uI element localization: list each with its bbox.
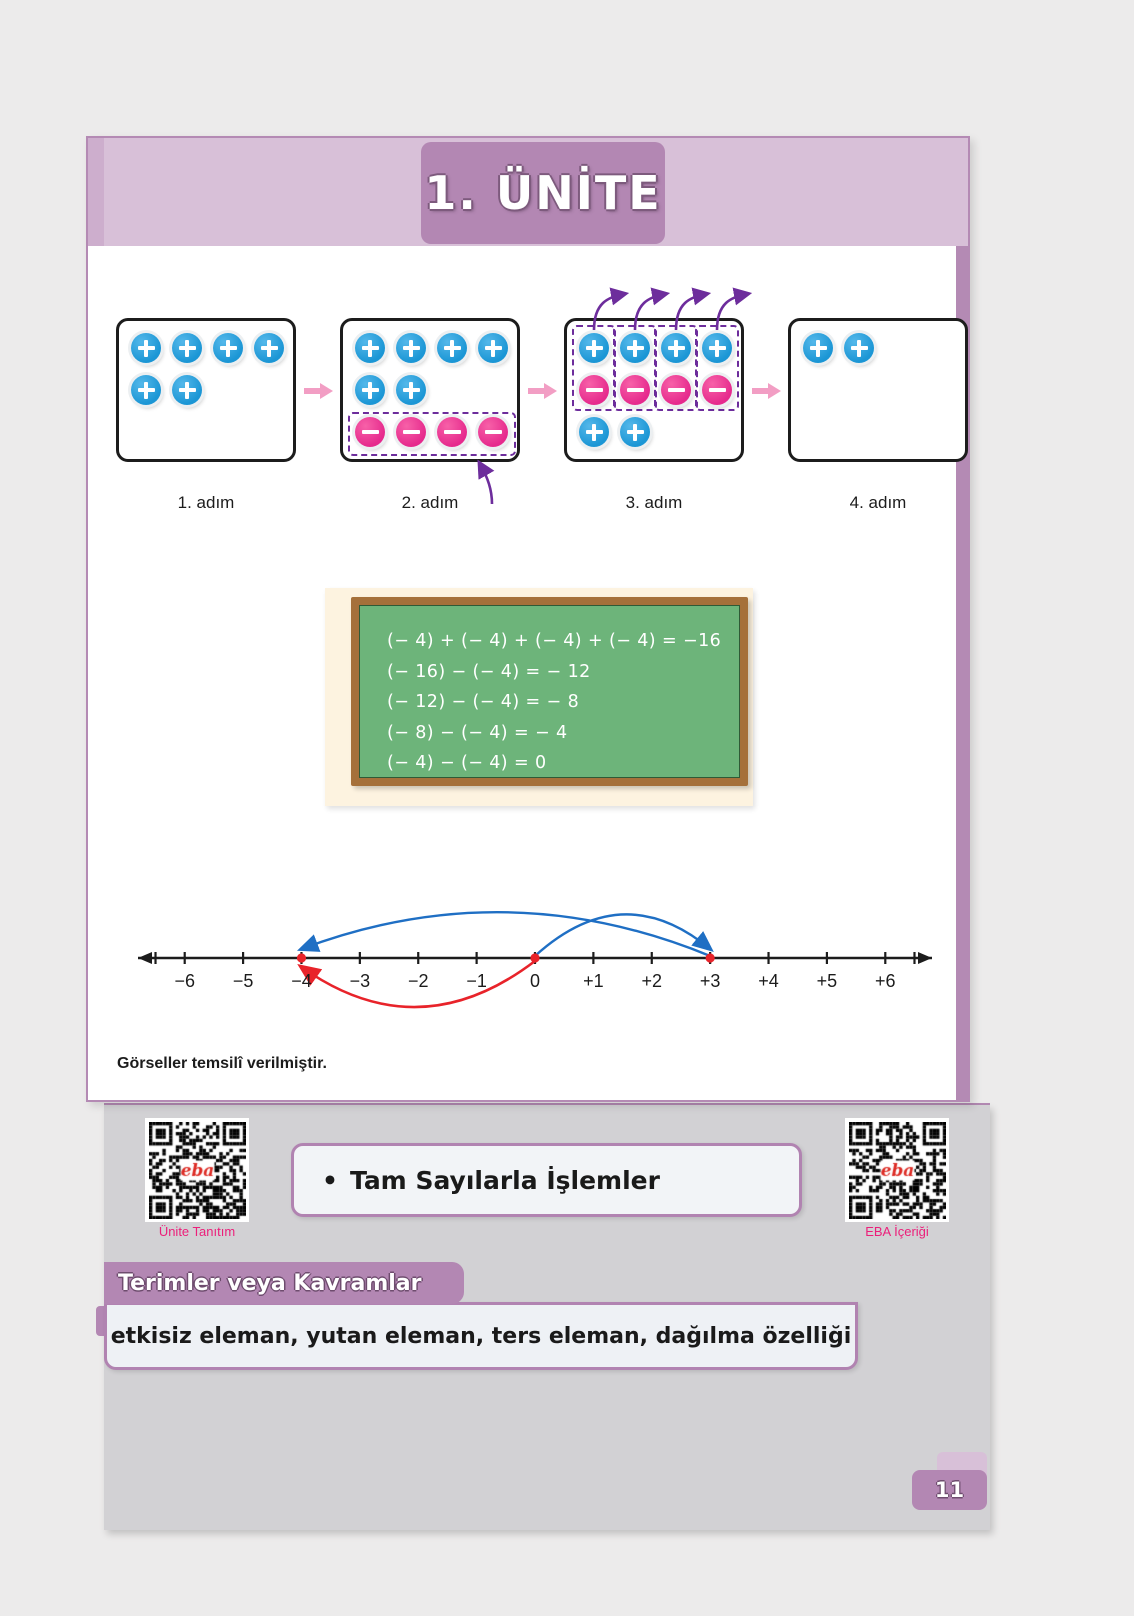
- terms-box: etkisiz eleman, yutan eleman, ters elema…: [104, 1302, 858, 1370]
- number-line-tick-label: −2: [393, 971, 443, 992]
- minus-counter-chip: [437, 417, 467, 447]
- number-line-tick-label: +6: [860, 971, 910, 992]
- plus-counter-chip: [131, 375, 161, 405]
- topic-bullet: •: [322, 1166, 338, 1195]
- chalkboard-line: (− 4) − (− 4) = 0: [387, 748, 739, 779]
- page-title: 1. ÜNİTE: [421, 142, 665, 244]
- chalkboard-line: (− 4) + (− 4) + (− 4) + (− 4) = −16: [387, 626, 739, 657]
- chip-bar-horizontal: [403, 430, 420, 434]
- plus-counter-chip: [396, 375, 426, 405]
- chip-bar-vertical: [368, 382, 372, 399]
- chalkboard-frame: (− 4) + (− 4) + (− 4) + (− 4) = −16(− 16…: [351, 597, 748, 786]
- number-line-tick-label: −4: [276, 971, 326, 992]
- qr-code-canvas: [849, 1122, 946, 1219]
- number-line-tick-label: −5: [218, 971, 268, 992]
- qr-left-label: Ünite Tanıtım: [132, 1224, 262, 1239]
- qr-code-eba-content[interactable]: [845, 1118, 949, 1222]
- chip-bar-horizontal: [444, 430, 461, 434]
- qr-right-label: EBA İçeriği: [832, 1224, 962, 1239]
- plus-counter-chip: [172, 375, 202, 405]
- terms-heading-tab: Terimler veya Kavramlar: [104, 1262, 464, 1304]
- card-right-tab: [956, 136, 970, 1102]
- minus-counter-chip: [396, 417, 426, 447]
- textbook-page: 1. ÜNİTE 1. adım2. adım3. adım4. adım (−…: [0, 0, 1134, 1616]
- header-band-inner: [88, 138, 104, 246]
- plus-counter-chip: [579, 417, 609, 447]
- number-line-tick-label: +2: [627, 971, 677, 992]
- chip-bar-horizontal: [362, 430, 379, 434]
- chip-bar-horizontal: [586, 388, 603, 392]
- chip-bar-horizontal: [668, 388, 685, 392]
- qr-code-unit-intro[interactable]: [145, 1118, 249, 1222]
- chip-bar-horizontal: [485, 430, 502, 434]
- chip-bar-vertical: [592, 424, 596, 441]
- number-line-tick-label: +1: [568, 971, 618, 992]
- plus-counter-chip: [355, 375, 385, 405]
- pink-transition-arrow: [526, 380, 560, 402]
- chip-bar-vertical: [409, 382, 413, 399]
- chip-bar-vertical: [185, 382, 189, 399]
- note-text: Görseller temsilî verilmiştir.: [117, 1055, 327, 1073]
- number-line-tick-label: +3: [685, 971, 735, 992]
- step-label: 4. adım: [818, 493, 938, 513]
- page-number-badge: 11: [912, 1470, 987, 1510]
- pink-transition-arrow: [750, 380, 784, 402]
- minus-counter-chip: [579, 375, 609, 405]
- number-line-tick-label: −1: [452, 971, 502, 992]
- topic-label: Tam Sayılarla İşlemler: [350, 1166, 660, 1195]
- number-line-tick-label: +5: [802, 971, 852, 992]
- chalkboard-line: (− 8) − (− 4) = − 4: [387, 718, 739, 749]
- chip-bar-vertical: [144, 382, 148, 399]
- minus-counter-chip: [620, 375, 650, 405]
- qr-code-canvas: [149, 1122, 246, 1219]
- zero-pair-removal-arrows: [0, 285, 1134, 345]
- number-line-tick-label: 0: [510, 971, 560, 992]
- chalkboard-line: (− 12) − (− 4) = − 8: [387, 687, 739, 718]
- number-line-tick-label: +4: [744, 971, 794, 992]
- chip-bar-horizontal: [709, 388, 726, 392]
- number-line-svg: [120, 875, 950, 1045]
- minus-counter-chip: [355, 417, 385, 447]
- added-zero-pairs-arrow: [430, 452, 690, 522]
- number-line-tick-label: −3: [335, 971, 385, 992]
- pink-transition-arrow: [302, 380, 336, 402]
- number-line-chart: −6−5−4−3−2−10+1+2+3+4+5+6: [120, 875, 950, 1045]
- number-line-tick-label: −6: [160, 971, 210, 992]
- chip-bar-vertical: [633, 424, 637, 441]
- step-label: 1. adım: [146, 493, 266, 513]
- chalkboard-surface: (− 4) + (− 4) + (− 4) + (− 4) = −16(− 16…: [359, 605, 740, 778]
- minus-counter-chip: [478, 417, 508, 447]
- minus-counter-chip: [661, 375, 691, 405]
- terms-heading: Terimler veya Kavramlar: [118, 1271, 422, 1296]
- topic-pill[interactable]: • Tam Sayılarla İşlemler: [291, 1143, 802, 1217]
- chalkboard-line: (− 16) − (− 4) = − 12: [387, 657, 739, 688]
- plus-counter-chip: [620, 417, 650, 447]
- terms-content: etkisiz eleman, yutan eleman, ters elema…: [111, 1324, 852, 1349]
- chip-bar-horizontal: [627, 388, 644, 392]
- minus-counter-chip: [702, 375, 732, 405]
